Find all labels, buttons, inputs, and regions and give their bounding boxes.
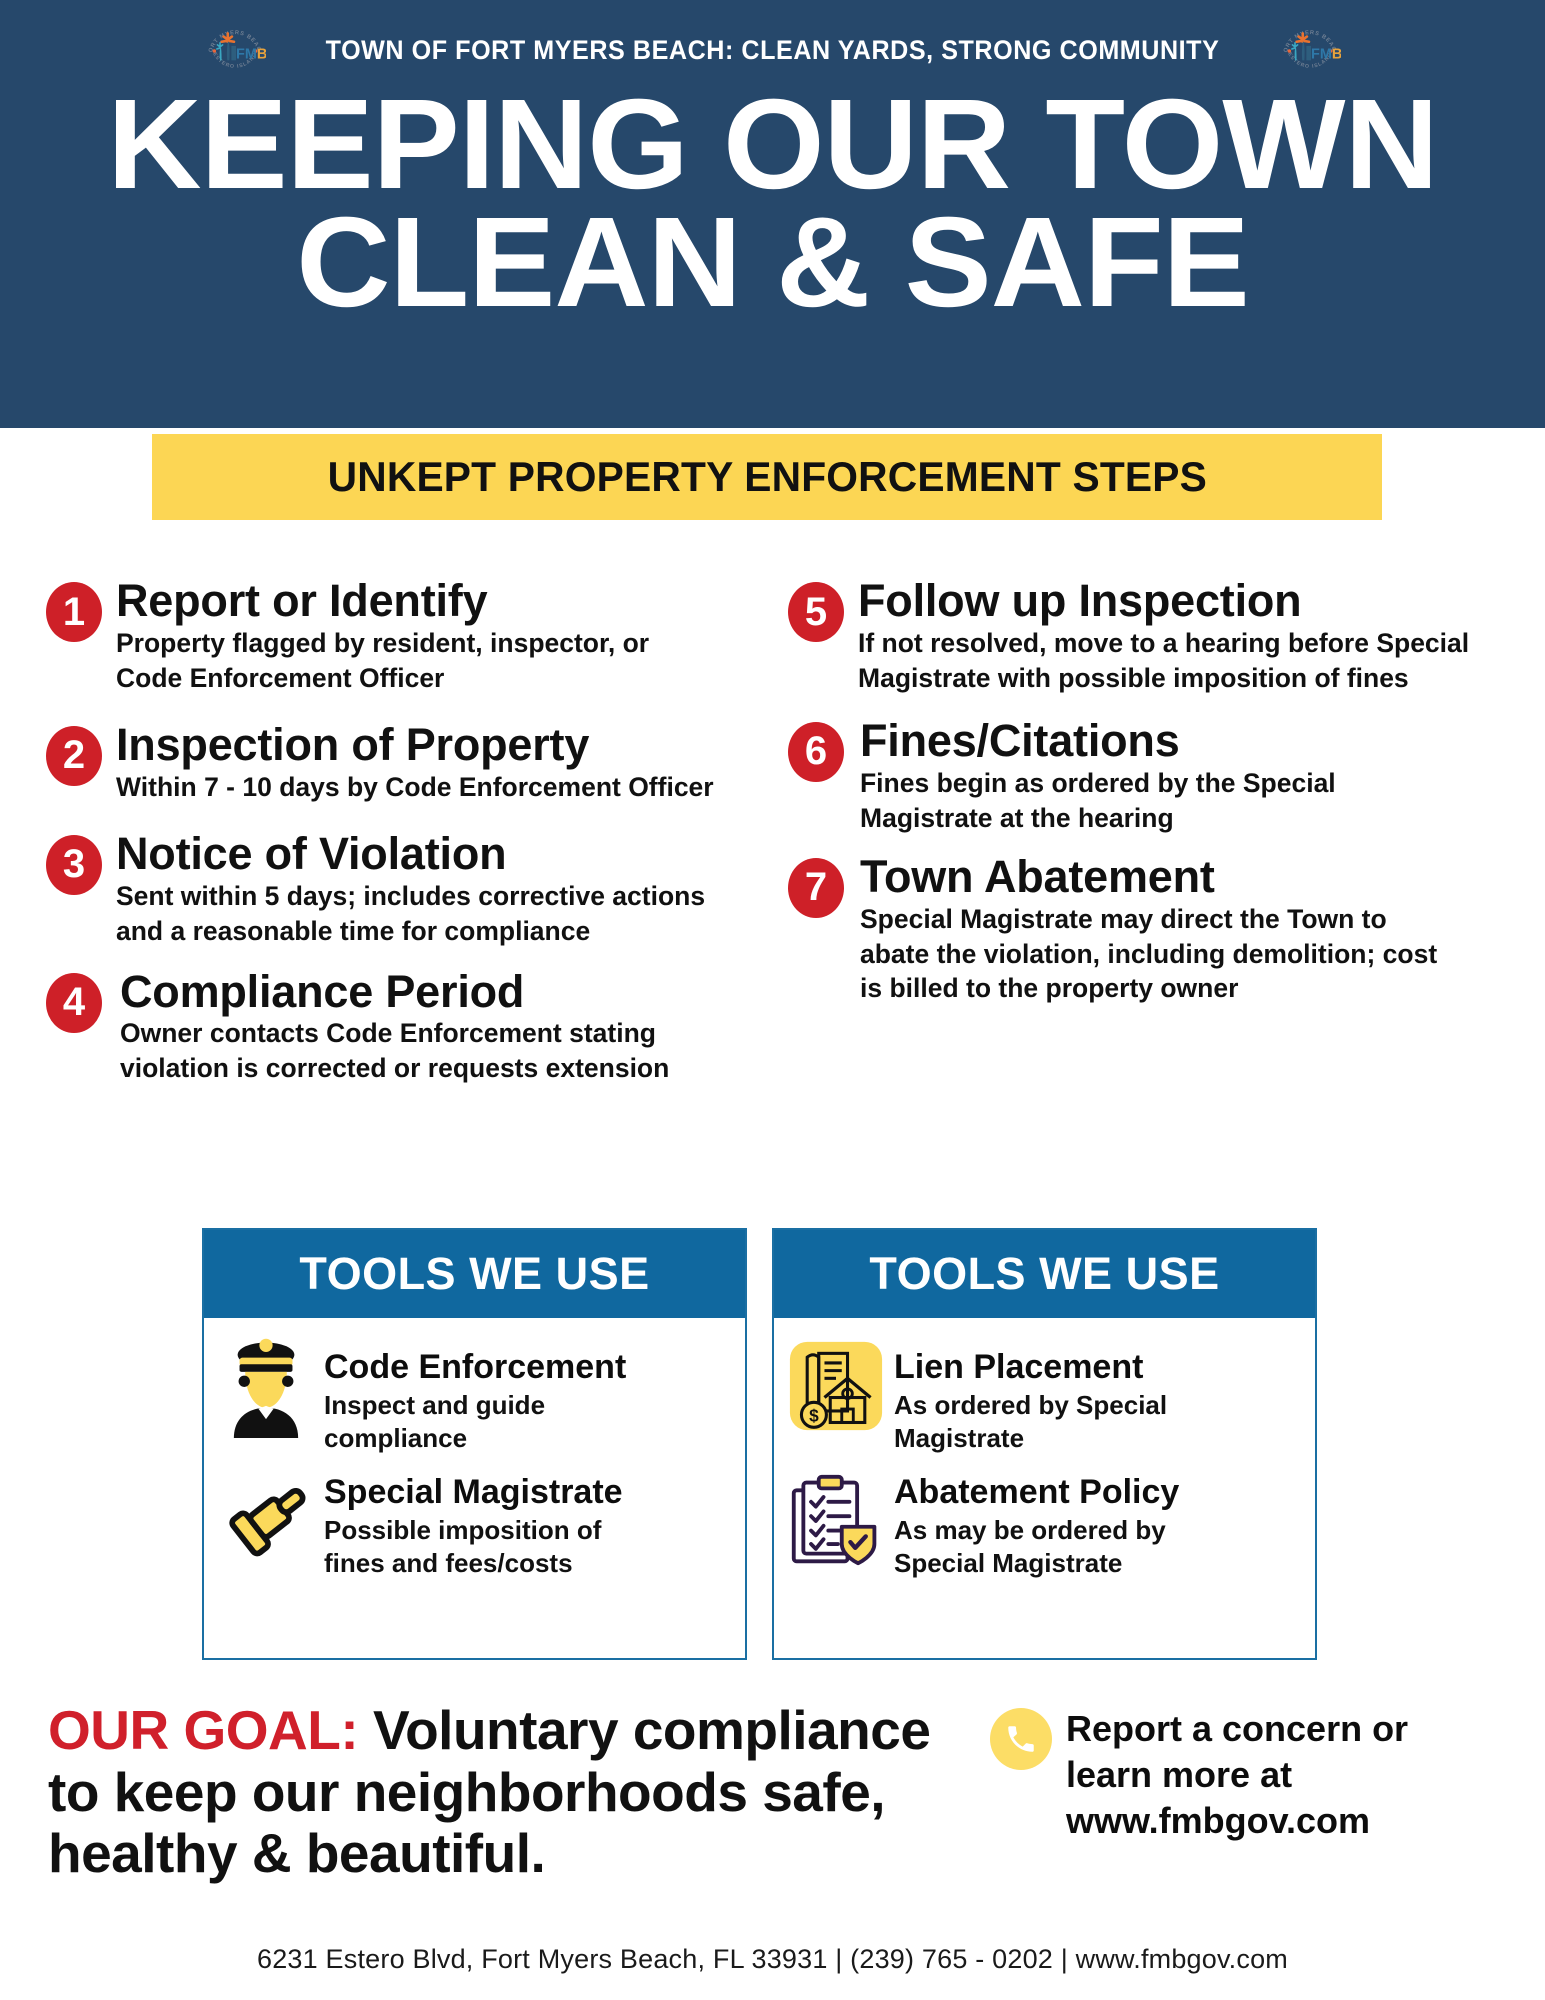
enforcement-steps: 1 Report or Identify Property flagged by… [0,578,1545,1178]
tool-item: $ Lien Placement As ordered by Special M… [788,1334,1301,1455]
step-description-line: Special Magistrate may direct the Town t… [860,902,1437,937]
step-description-line: Magistrate with possible imposition of f… [858,661,1469,696]
step-description-line: Property flagged by resident, inspector,… [116,626,649,661]
steps-column-right: 5 Follow up Inspection If not resolved, … [788,578,1508,1006]
tool-description: As ordered by Special Magistrate [894,1389,1167,1456]
step-title: Town Abatement [860,854,1437,900]
phone-glyph-icon [1004,1722,1038,1756]
section-banner-label: UNKEPT PROPERTY ENFORCEMENT STEPS [327,453,1206,501]
step-description: Sent within 5 days; includes corrective … [116,879,705,949]
step-description-line: abate the violation, including demolitio… [860,937,1437,972]
tool-description-line: fines and fees/costs [324,1547,623,1580]
step-title: Compliance Period [120,969,669,1015]
step-item: 6 Fines/Citations Fines begin as ordered… [788,718,1508,836]
phone-icon [990,1708,1052,1770]
step-description: Special Magistrate may direct the Town t… [860,902,1437,1007]
step-item: 7 Town Abatement Special Magistrate may … [788,854,1508,1007]
tool-description-line: compliance [324,1422,626,1455]
tool-description-line: As may be ordered by [894,1514,1179,1547]
step-description: Fines begin as ordered by the Special Ma… [860,766,1336,836]
tool-description-line: Special Magistrate [894,1547,1179,1580]
step-item: 3 Notice of Violation Sent within 5 days… [46,831,766,949]
checklist-shield-icon [788,1469,884,1573]
goal-line-1: OUR GOAL: Voluntary compliance [48,1700,978,1762]
step-item: 1 Report or Identify Property flagged by… [46,578,766,696]
contact-line: Report a concern or [1066,1706,1408,1752]
step-description-line: Owner contacts Code Enforcement stating [120,1016,669,1051]
tool-description-line: Inspect and guide [324,1389,626,1422]
step-description-line: Sent within 5 days; includes corrective … [116,879,705,914]
step-number-badge: 7 [788,858,844,918]
tools-box-right-header: TOOLS WE USE [774,1230,1315,1318]
contact-line: learn more at [1066,1752,1408,1798]
step-item: 5 Follow up Inspection If not resolved, … [788,578,1508,696]
step-description-line: Fines begin as ordered by the Special [860,766,1336,801]
contact-block[interactable]: Report a concern or learn more at www.fm… [990,1706,1510,1844]
tool-description-line: As ordered by Special [894,1389,1167,1422]
step-description-line: If not resolved, move to a hearing befor… [858,626,1469,661]
goal-line-2: to keep our neighborhoods safe, [48,1762,978,1824]
gavel-icon [218,1469,314,1573]
step-title: Follow up Inspection [858,578,1469,624]
fmb-logo-right: FORT MYERS BEACH ESTERO ISLAND FMB [1279,19,1341,81]
step-item: 2 Inspection of Property Within 7 - 10 d… [46,722,766,805]
tool-name: Special Magistrate [324,1475,623,1511]
step-number-badge: 2 [46,726,102,786]
goal-line-3: healthy & beautiful. [48,1823,978,1885]
page-title-line-2: CLEAN & SAFE [0,204,1545,322]
tool-description: Possible imposition of fines and fees/co… [324,1514,623,1581]
tools-box-right: TOOLS WE USE [772,1228,1317,1660]
svg-text:$: $ [809,1406,819,1426]
step-description-line: Code Enforcement Officer [116,661,649,696]
tool-name: Code Enforcement [324,1350,626,1386]
tool-description: As may be ordered by Special Magistrate [894,1514,1179,1581]
lien-document-house-icon: $ [788,1334,884,1438]
step-description: Property flagged by resident, inspector,… [116,626,649,696]
step-number-badge: 1 [46,582,102,642]
step-description-line: Within 7 - 10 days by Code Enforcement O… [116,770,714,805]
tool-item: Special Magistrate Possible imposition o… [218,1469,731,1580]
police-officer-icon [218,1334,314,1438]
step-description-line: Magistrate at the hearing [860,801,1336,836]
tool-name: Lien Placement [894,1350,1167,1386]
step-number-badge: 3 [46,835,102,895]
tools-box-left-heading: TOOLS WE USE [299,1248,649,1300]
hero-kicker: TOWN OF FORT MYERS BEACH: CLEAN YARDS, S… [326,35,1220,66]
tool-item: Code Enforcement Inspect and guide compl… [218,1334,731,1455]
tool-description: Inspect and guide compliance [324,1389,626,1456]
page-title: KEEPING OUR TOWN CLEAN & SAFE [0,86,1545,322]
tool-description-line: Possible imposition of [324,1514,623,1547]
step-description-line: violation is corrected or requests exten… [120,1051,669,1086]
step-item: 4 Compliance Period Owner contacts Code … [46,969,766,1087]
section-banner: UNKEPT PROPERTY ENFORCEMENT STEPS [152,434,1382,520]
step-description-line: is billed to the property owner [860,971,1437,1006]
fmb-logo-left: FORT MYERS BEACH ESTERO ISLAND FMB [204,19,266,81]
step-description: If not resolved, move to a hearing befor… [858,626,1469,696]
tool-item: Abatement Policy As may be ordered by Sp… [788,1469,1301,1580]
goal-statement: OUR GOAL: Voluntary compliance to keep o… [48,1700,978,1885]
tools-box-left-header: TOOLS WE USE [204,1230,745,1318]
steps-column-left: 1 Report or Identify Property flagged by… [46,578,766,1086]
contact-text: Report a concern or learn more at www.fm… [1066,1706,1408,1844]
tools-box-left: TOOLS WE USE [202,1228,747,1660]
step-title: Fines/Citations [860,718,1336,764]
tool-description-line: Magistrate [894,1422,1167,1455]
step-description-line: and a reasonable time for compliance [116,914,705,949]
step-description: Within 7 - 10 days by Code Enforcement O… [116,770,714,805]
step-number-badge: 6 [788,722,844,782]
tools-box-right-heading: TOOLS WE USE [869,1248,1219,1300]
step-title: Report or Identify [116,578,649,624]
step-number-badge: 5 [788,582,844,642]
step-number-badge: 4 [46,973,102,1033]
goal-lead-label: OUR GOAL: [48,1699,358,1761]
step-title: Notice of Violation [116,831,705,877]
tool-name: Abatement Policy [894,1475,1179,1511]
infographic-page: FORT MYERS BEACH ESTERO ISLAND FMB [0,0,1545,2000]
page-title-line-1: KEEPING OUR TOWN [0,86,1545,204]
step-title: Inspection of Property [116,722,714,768]
svg-text:FMB: FMB [1311,46,1341,62]
contact-website[interactable]: www.fmbgov.com [1066,1798,1408,1844]
footer-contact-line: 6231 Estero Blvd, Fort Myers Beach, FL 3… [0,1944,1545,1975]
goal-line-1-rest: Voluntary compliance [358,1699,930,1761]
step-description: Owner contacts Code Enforcement stating … [120,1016,669,1086]
hero-banner: FORT MYERS BEACH ESTERO ISLAND FMB [0,0,1545,428]
svg-text:FMB: FMB [236,46,266,62]
